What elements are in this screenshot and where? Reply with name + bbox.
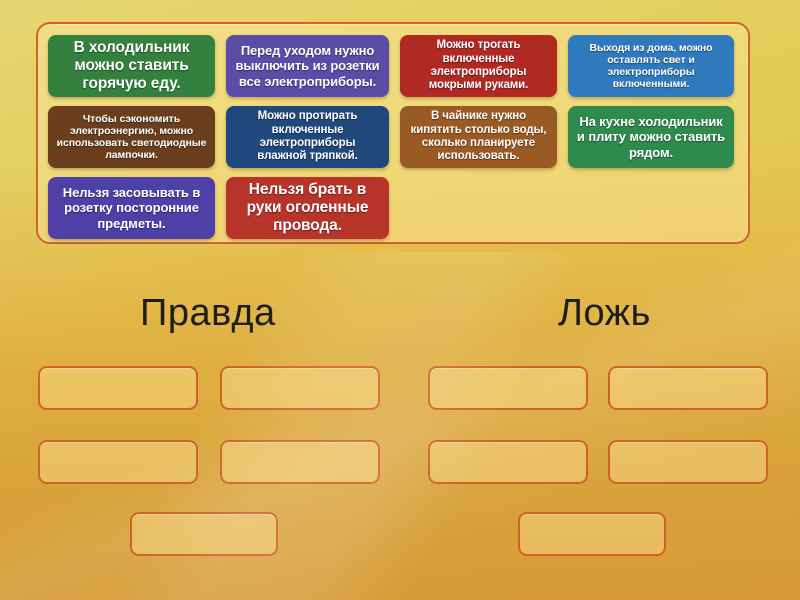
statement-tile[interactable]: В холодильник можно ставить горячую еду. (48, 35, 215, 97)
statement-tile[interactable]: На кухне холодильник и плиту можно стави… (568, 106, 734, 168)
statement-tile[interactable]: В чайнике нужно кипятить столько воды, с… (400, 106, 557, 168)
statement-tile-label: На кухне холодильник и плиту можно стави… (576, 114, 726, 159)
drop-slot[interactable] (220, 366, 380, 410)
draggable-tile-list: В холодильник можно ставить горячую еду.… (38, 24, 748, 242)
statement-tile-label: Нельзя брать в руки оголенные провода. (234, 181, 381, 235)
drop-slot[interactable] (608, 366, 768, 410)
statement-tile[interactable]: Можно трогать включенные электроприборы … (400, 35, 557, 97)
statement-tile[interactable]: Чтобы сэкономить электроэнергию, можно и… (48, 106, 215, 168)
source-tile-panel: В холодильник можно ставить горячую еду.… (36, 22, 750, 244)
drop-slot[interactable] (518, 512, 666, 556)
statement-tile-label: Чтобы сэкономить электроэнергию, можно и… (56, 113, 207, 162)
drop-slot[interactable] (428, 366, 588, 410)
statement-tile-label: В холодильник можно ставить горячую еду. (56, 39, 207, 93)
drop-slot[interactable] (428, 440, 588, 484)
statement-tile-label: Можно протирать включенные электроприбор… (234, 110, 381, 163)
category-title-true: Правда (140, 292, 276, 335)
drop-slot[interactable] (608, 440, 768, 484)
activity-stage: В холодильник можно ставить горячую еду.… (0, 0, 800, 600)
drop-slot[interactable] (130, 512, 278, 556)
statement-tile-label: В чайнике нужно кипятить столько воды, с… (408, 110, 549, 163)
statement-tile-label: Перед уходом нужно выключить из розетки … (234, 43, 381, 88)
drop-slot[interactable] (38, 440, 198, 484)
statement-tile[interactable]: Нельзя брать в руки оголенные провода. (226, 177, 389, 239)
drop-slot[interactable] (38, 366, 198, 410)
statement-tile[interactable]: Нельзя засовывать в розетку посторонние … (48, 177, 215, 239)
statement-tile-label: Выходя из дома, можно оставлять свет и э… (576, 42, 726, 91)
statement-tile-label: Нельзя засовывать в розетку посторонние … (56, 185, 207, 230)
statement-tile[interactable]: Перед уходом нужно выключить из розетки … (226, 35, 389, 97)
category-title-false: Ложь (558, 292, 651, 335)
drop-slot[interactable] (220, 440, 380, 484)
statement-tile[interactable]: Можно протирать включенные электроприбор… (226, 106, 389, 168)
statement-tile[interactable]: Выходя из дома, можно оставлять свет и э… (568, 35, 734, 97)
statement-tile-label: Можно трогать включенные электроприборы … (408, 39, 549, 92)
